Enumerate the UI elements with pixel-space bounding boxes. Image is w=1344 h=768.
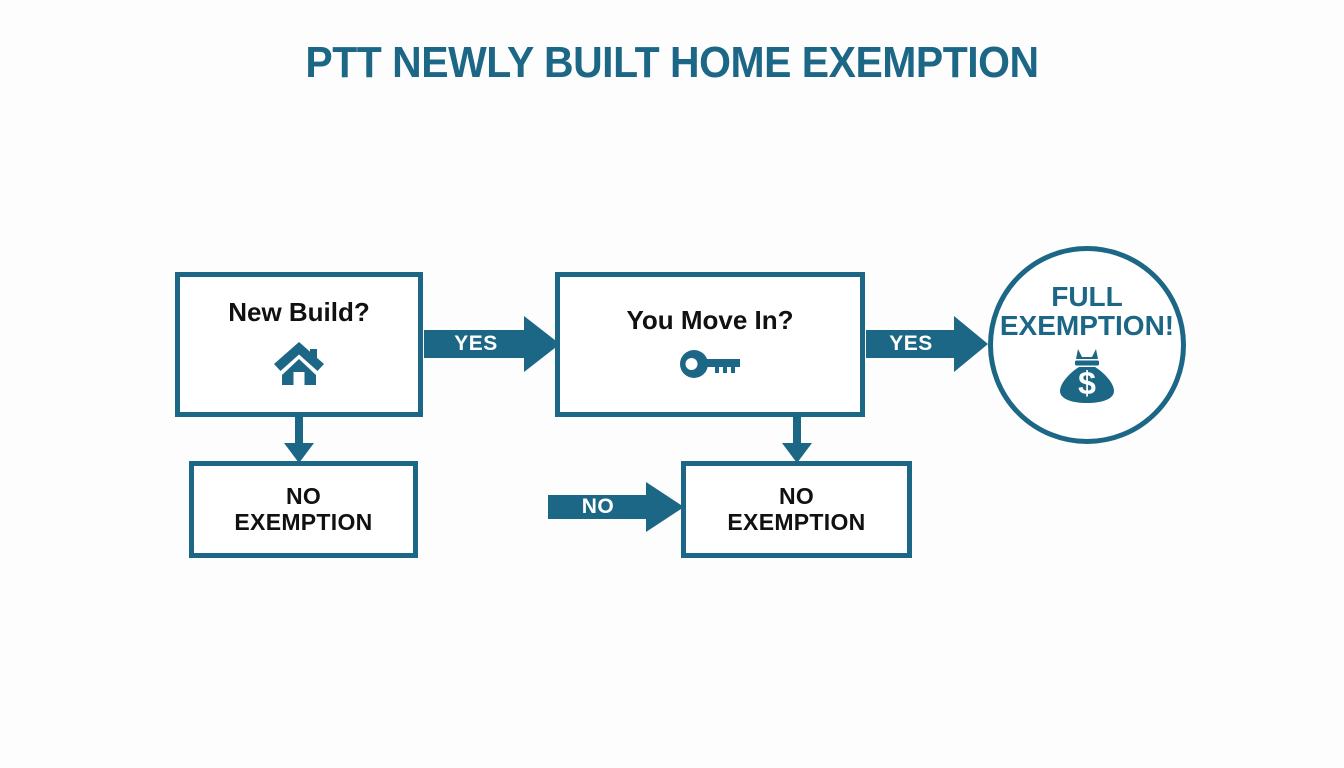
svg-text:$: $: [1078, 365, 1096, 401]
decision-box-new-build-label: New Build?: [228, 298, 370, 327]
terminal-box-no-exemption-right-line1: NO: [779, 484, 814, 510]
terminal-box-no-exemption-right[interactable]: NO EXEMPTION: [681, 461, 912, 558]
page-title: PTT NEWLY BUILT HOME EXEMPTION: [47, 38, 1297, 88]
connector-down-move-in-to-no-exemption: [781, 417, 813, 463]
connector-yes-move-in-to-full-exemption: YES: [866, 316, 988, 372]
flowchart-canvas: PTT NEWLY BUILT HOME EXEMPTION New Build…: [0, 0, 1344, 768]
money-bag-icon: $: [1058, 347, 1116, 408]
result-circle-line1: FULL: [1051, 282, 1123, 311]
connector-no-to-right-no-exemption: NO: [548, 482, 684, 532]
terminal-box-no-exemption-right-line2: EXEMPTION: [727, 510, 865, 536]
result-circle-line2: EXEMPTION!: [1000, 311, 1174, 340]
decision-box-move-in[interactable]: You Move In?: [555, 272, 865, 417]
house-icon: [272, 340, 326, 391]
decision-box-move-in-label: You Move In?: [626, 306, 793, 335]
terminal-box-no-exemption-left[interactable]: NO EXEMPTION: [189, 461, 418, 558]
terminal-box-no-exemption-left-line2: EXEMPTION: [234, 510, 372, 536]
decision-box-new-build[interactable]: New Build?: [175, 272, 423, 417]
connector-down-new-build-to-no-exemption: [283, 417, 315, 463]
connector-yes-new-build-to-move-in: YES: [424, 316, 560, 372]
result-circle-full-exemption[interactable]: FULL EXEMPTION! $: [988, 246, 1186, 444]
terminal-box-no-exemption-left-line1: NO: [286, 484, 321, 510]
key-icon: [679, 350, 741, 383]
